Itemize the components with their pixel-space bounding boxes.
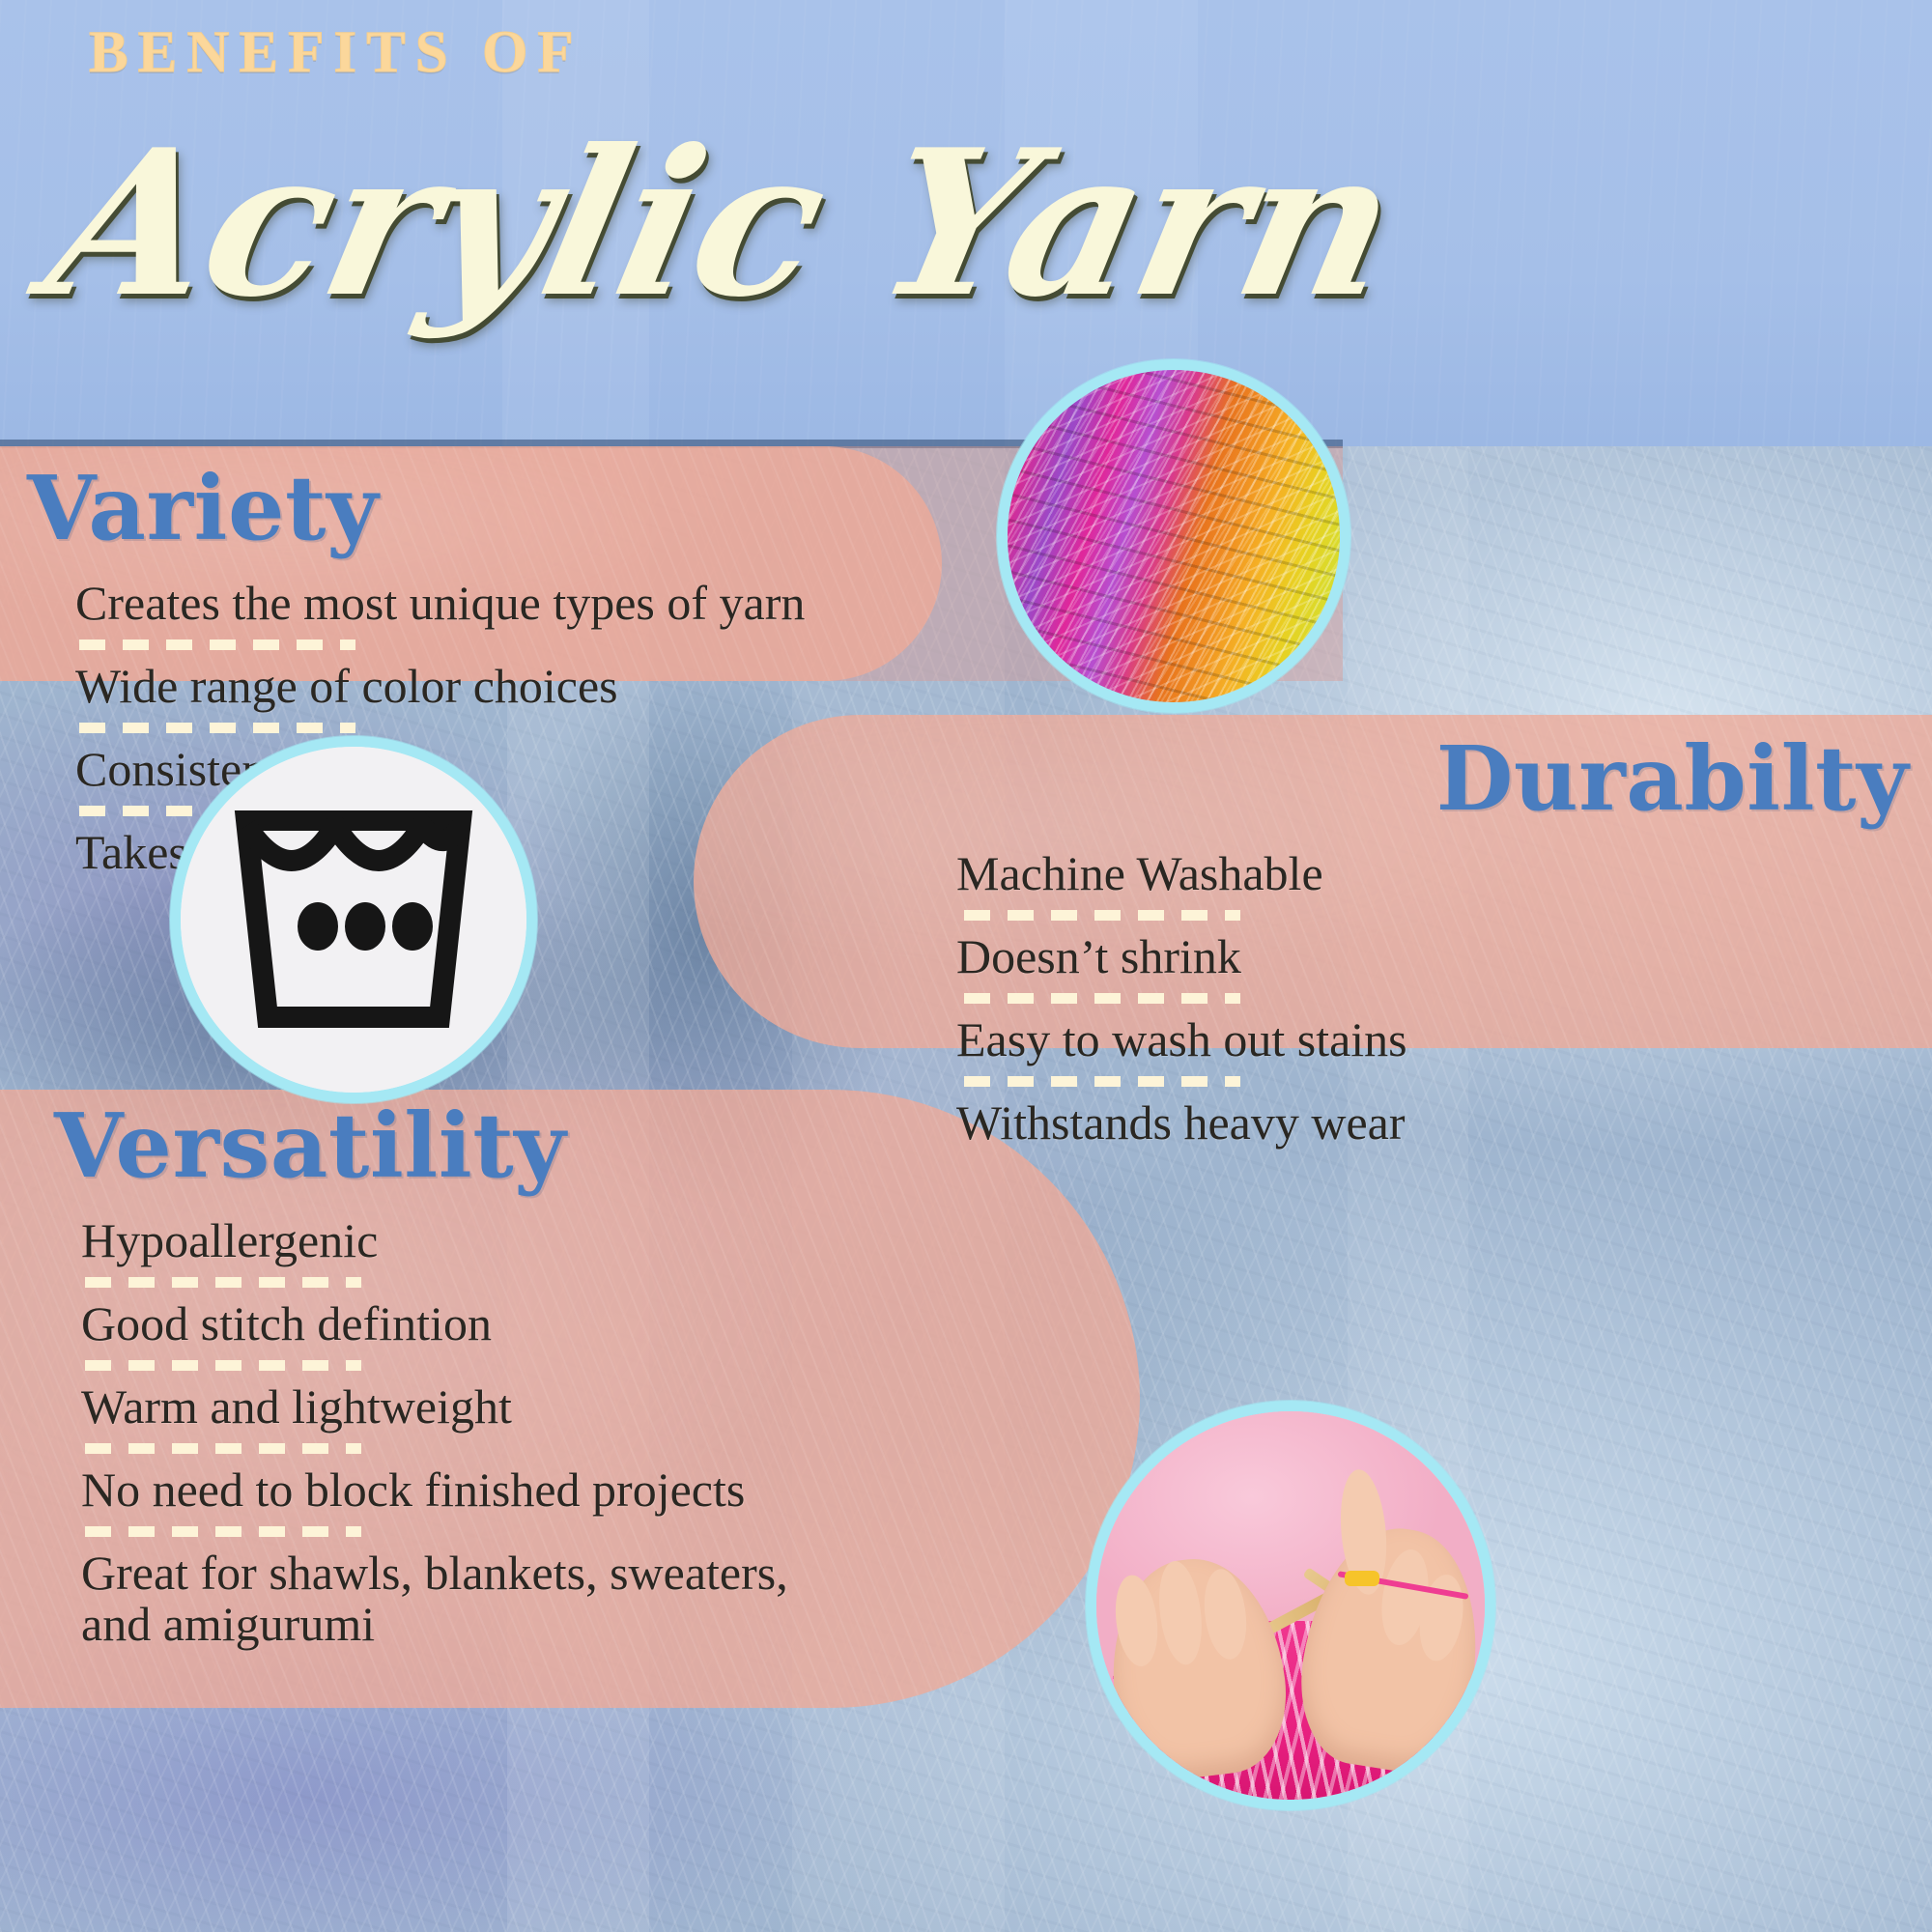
list-item: Withstands heavy wear (956, 1097, 1922, 1149)
list-item: Machine Washable (956, 848, 1922, 899)
durability-list: Machine Washable Doesn’t shrink Easy to … (927, 848, 1922, 1149)
versatility-heading: Versatility (54, 1101, 788, 1190)
kicker-text: BENEFITS OF (89, 19, 583, 87)
infographic-canvas: BENEFITS OF Acrylic Yarn Variety Creates… (0, 0, 1932, 1932)
list-item: Good stitch defintion (81, 1298, 788, 1350)
variety-heading: Variety (27, 464, 805, 553)
dashed-divider (79, 723, 355, 733)
section-durability: Durabilty Machine Washable Doesn’t shrin… (927, 734, 1922, 1149)
list-item: Creates the most unique types of yarn (75, 578, 805, 629)
finger (1153, 1558, 1207, 1666)
yarn-texture (1008, 370, 1340, 702)
versatility-list: Hypoallergenic Good stitch defintion War… (54, 1215, 788, 1650)
page-title: Acrylic Yarn (35, 124, 1410, 325)
knit-photo-fill (1096, 1411, 1485, 1800)
rainbow-yarn-photo (997, 359, 1350, 713)
machine-wash-icon (170, 736, 537, 1103)
dashed-divider (85, 1443, 361, 1454)
dashed-divider (85, 1277, 361, 1288)
dashed-divider (79, 639, 355, 650)
list-item: Easy to wash out stains (956, 1014, 1922, 1065)
list-item: No need to block finished projects (81, 1464, 788, 1516)
hands-knitting-photo (1086, 1401, 1495, 1810)
section-versatility: Versatility Hypoallergenic Good stitch d… (54, 1101, 788, 1650)
yellow-clip (1345, 1571, 1379, 1586)
finger (1111, 1573, 1163, 1668)
list-item: Great for shawls, blankets, sweaters, an… (81, 1548, 788, 1650)
list-item: Wide range of color choices (75, 661, 805, 712)
wash-tub-glyph (233, 810, 474, 1029)
dashed-divider (964, 1076, 1240, 1087)
dashed-divider (964, 993, 1240, 1004)
list-item: Doesn’t shrink (956, 931, 1922, 982)
durability-heading: Durabilty (927, 734, 1922, 823)
list-item: Warm and lightweight (81, 1381, 788, 1433)
dashed-divider (85, 1526, 361, 1537)
dashed-divider (964, 910, 1240, 921)
list-item: Hypoallergenic (81, 1215, 788, 1266)
dashed-divider (85, 1360, 361, 1371)
